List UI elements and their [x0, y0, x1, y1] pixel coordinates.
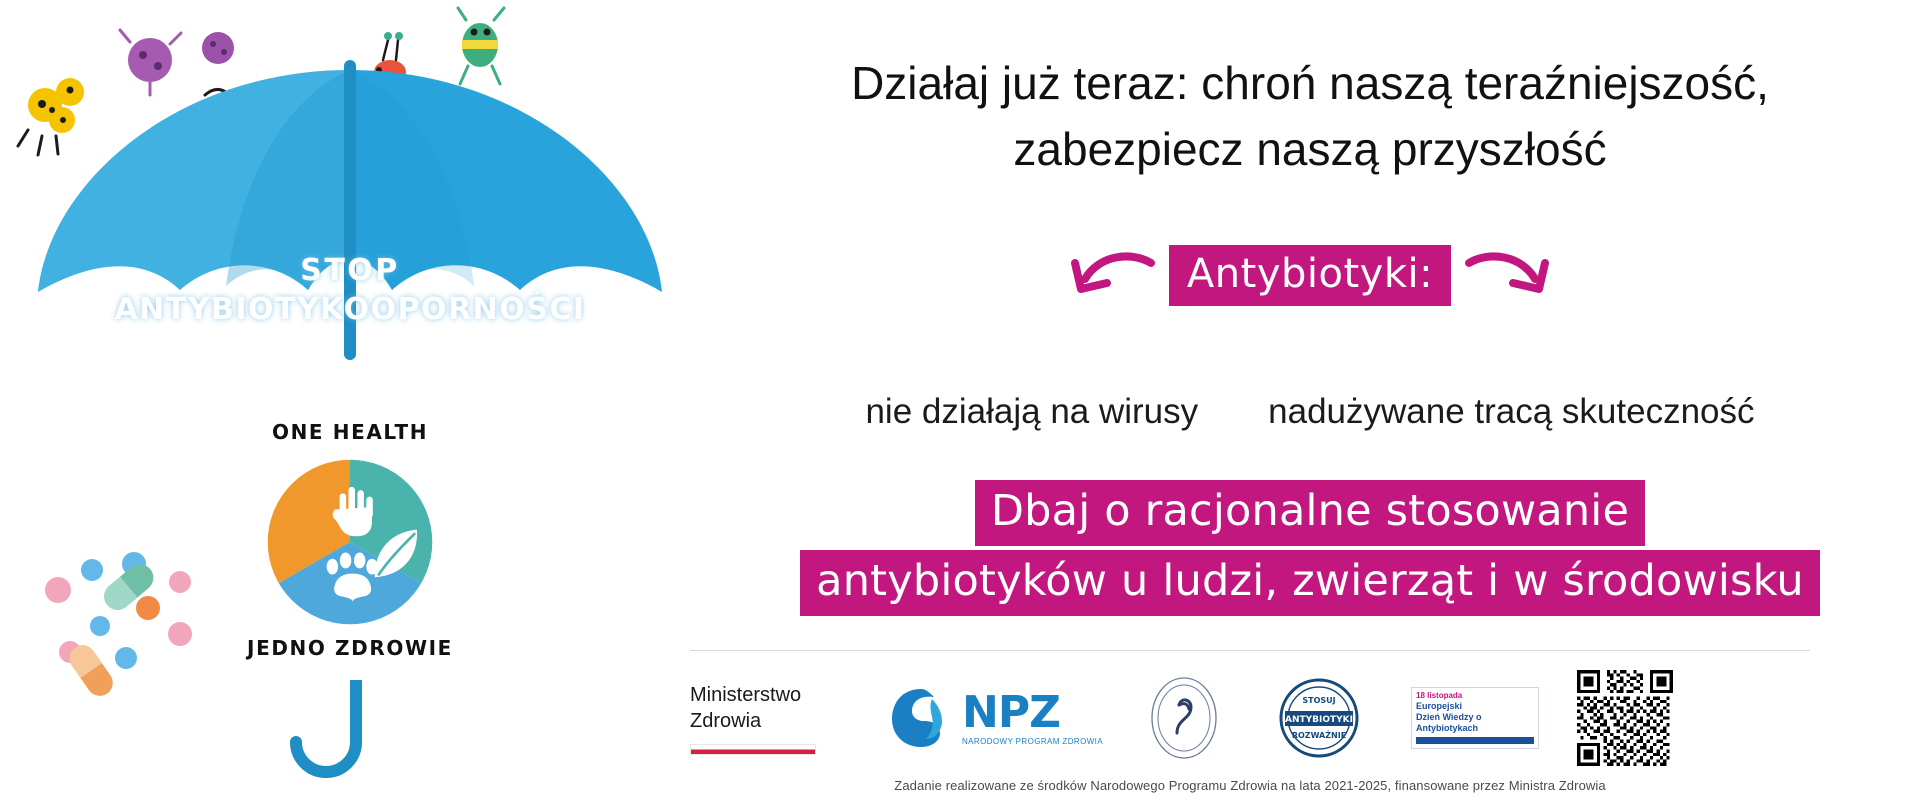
pill-dot: [90, 616, 110, 636]
one-health-top-label: ONE HEALTH: [200, 420, 500, 444]
one-health-circle-icon: [262, 454, 438, 630]
eu-day-title-1: Europejski: [1416, 701, 1534, 712]
badge-top-text: STOSUJ: [1302, 696, 1335, 705]
npz-acronym: NPZ: [962, 691, 1103, 735]
pill-dot: [169, 571, 191, 593]
funding-note: Zadanie realizowane ze środków Narodoweg…: [690, 778, 1810, 793]
eu-day-title-2: Dzień Wiedzy o: [1416, 712, 1534, 723]
pill-dot: [136, 596, 160, 620]
npz-subtitle: NARODOWY PROGRAM ZDROWIA: [962, 737, 1103, 746]
pill-dot: [81, 559, 103, 581]
european-antibiotic-awareness-day-logo: 18 listopada Europejski Dzień Wiedzy o A…: [1411, 687, 1539, 749]
one-health-bottom-label: JEDNO ZDROWIE: [200, 636, 500, 660]
pill-dot: [45, 577, 71, 603]
eu-day-title-3: Antybiotykach: [1416, 723, 1534, 734]
npz-logo: NPZ NARODOWY PROGRAM ZDROWIA: [888, 685, 1103, 751]
curved-arrow-left-icon: [1069, 249, 1155, 303]
institute-seal-logo: [1141, 675, 1227, 761]
antibiotics-badge-row: Antybiotyki:: [700, 245, 1920, 306]
cta-line-1: Dbaj o racjonalne stosowanie: [975, 480, 1645, 546]
umbrella-svg: [30, 60, 670, 360]
status-badge: Antybiotyki:: [1169, 245, 1451, 306]
ministry-of-health-logo: Ministerstwo Zdrowia: [690, 682, 850, 755]
umbrella-illustration: STOP ANTYBIOTYKOOPORNOŚCI: [30, 60, 670, 360]
left-illustration-panel: STOP ANTYBIOTYKOOPORNOŚCI: [0, 0, 700, 810]
cta-line-2: antybiotyków u ludzi, zwierząt i w środo…: [800, 550, 1820, 616]
page-title: Działaj już teraz: chroń naszą teraźniej…: [700, 50, 1920, 182]
qr-code[interactable]: [1577, 670, 1673, 766]
headline-line-1: Działaj już teraz: chroń naszą teraźniej…: [700, 50, 1920, 116]
umbrella-shaft: [344, 60, 356, 360]
npz-mark-icon: [888, 685, 954, 751]
antibiotic-facts: nie działają na wirusy nadużywane tracą …: [700, 390, 1920, 434]
footer-logos: Ministerstwo Zdrowia NPZ NARODOWY PROGRA…: [690, 650, 1920, 810]
fact-right: nadużywane tracą skuteczność: [1268, 390, 1754, 434]
one-health-block: ONE HEALTH: [200, 420, 500, 660]
pill-dot: [168, 622, 192, 646]
fact-left: nie działają na wirusy: [865, 390, 1198, 434]
curved-arrow-right-icon: [1465, 249, 1551, 303]
footer-divider: [690, 650, 1810, 651]
use-antibiotics-wisely-logo: ANTYBIOTYKI STOSUJ ROZWAŻNIE: [1265, 675, 1373, 761]
eu-flag-bar-icon: [1416, 737, 1534, 744]
badge-middle-text: ANTYBIOTYKI: [1285, 715, 1353, 725]
badge-bottom-text: ROZWAŻNIE: [1292, 730, 1346, 740]
ministry-line-2: Zdrowia: [690, 708, 850, 734]
eu-day-date: 18 listopada: [1416, 691, 1534, 701]
logo-strip: Ministerstwo Zdrowia NPZ NARODOWY PROGRA…: [690, 668, 1920, 768]
campaign-banner: STOP ANTYBIOTYKOOPORNOŚCI: [0, 0, 1920, 810]
call-to-action-block: Dbaj o racjonalne stosowanie antybiotykó…: [700, 480, 1920, 616]
headline-line-2: zabezpiecz naszą przyszłość: [700, 116, 1920, 182]
umbrella-handle: [290, 680, 410, 800]
ministry-line-1: Ministerstwo: [690, 682, 850, 708]
polish-flag-bar-icon: [690, 744, 816, 755]
pill-dot: [115, 647, 137, 669]
